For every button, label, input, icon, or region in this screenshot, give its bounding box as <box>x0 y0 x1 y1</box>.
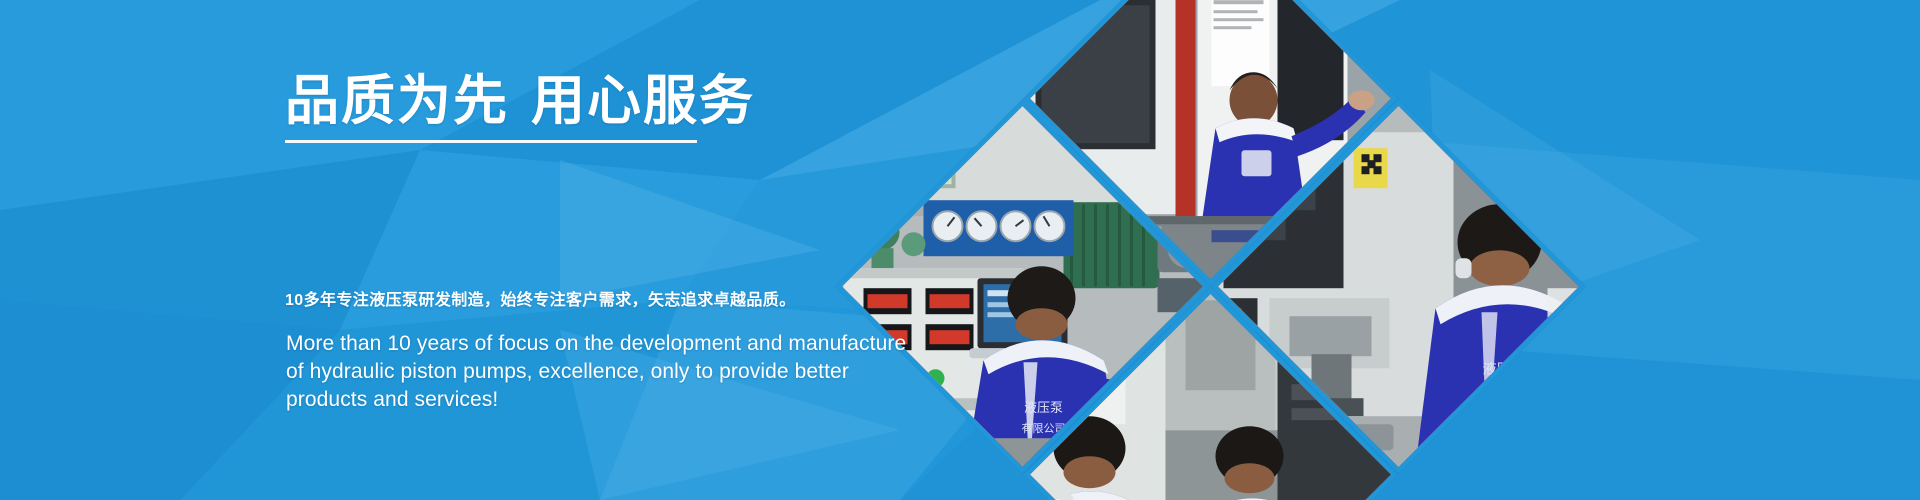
svg-text:有限公司: 有限公司 <box>1022 421 1066 435</box>
headline-block: 品质为先用心服务 <box>285 70 965 143</box>
svg-text:液压泵: 液压泵 <box>1024 401 1063 416</box>
subtitle-english: More than 10 years of focus on the devel… <box>286 330 926 414</box>
headline-part-2: 用心服务 <box>531 71 755 131</box>
photo-collage: 液压泵 有限公司 <box>880 0 1460 500</box>
promo-banner: 液压泵 有限公司 <box>0 0 1920 500</box>
headline-underline <box>285 140 697 143</box>
subtitle-chinese: 10多年专注液压泵研发制造，始终专注客户需求，矢志追求卓越品质。 <box>285 286 796 310</box>
page-title: 品质为先用心服务 <box>285 70 755 134</box>
headline-part-1: 品质为先 <box>285 71 509 131</box>
